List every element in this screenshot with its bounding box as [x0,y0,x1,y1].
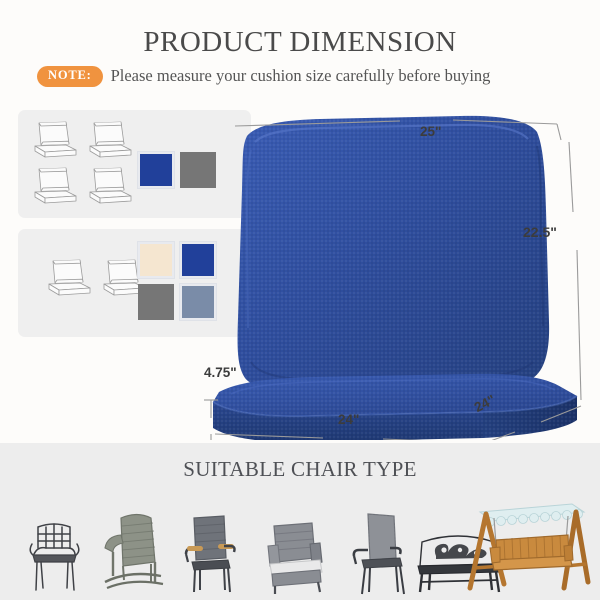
chair-mesh-sling-chair [350,510,408,596]
color-swatch-gray[interactable] [138,284,174,320]
cushion-outline-icon [30,119,80,164]
cushion-outline-group [30,119,135,210]
dimension-label-seat-width: 24" [338,412,359,427]
note-row: NOTE: Please measure your cushion size c… [37,66,490,87]
chair-wooden-porch-swing [460,492,596,596]
product-dimension-section: PRODUCT DIMENSION NOTE: Please measure y… [0,0,600,443]
dimension-label-back-height: 22.5" [523,224,557,240]
note-text: Please measure your cushion size careful… [111,66,491,86]
dimension-label-seat-thickness: 4.75" [204,365,237,380]
seat-cushion [213,374,577,440]
color-swatch-cream[interactable] [138,242,174,278]
cushion-outline-icon [85,165,135,210]
cushion-illustration [185,100,600,440]
chair-wicker-club-chair [258,516,326,596]
chair-type-row [0,491,600,596]
page-title: PRODUCT DIMENSION [0,26,600,59]
cushion-outline-icon [44,257,94,302]
chair-wicker-rocking-chair [93,504,165,596]
back-cushion [238,116,550,392]
cushion-outline-group [44,257,149,302]
chair-wicker-dining-armchair [178,510,240,596]
chair-section-title: SUITABLE CHAIR TYPE [0,457,600,482]
cushion-outline-icon [85,119,135,164]
chair-cast-aluminum-lattice-chair [24,518,86,596]
cushion-outline-icon [30,165,80,210]
dimension-label-back-width: 25" [420,124,441,139]
suitable-chair-type-section: SUITABLE CHAIR TYPE [0,443,600,600]
color-swatch-royal-blue[interactable] [138,152,174,188]
note-badge: NOTE: [37,66,103,87]
